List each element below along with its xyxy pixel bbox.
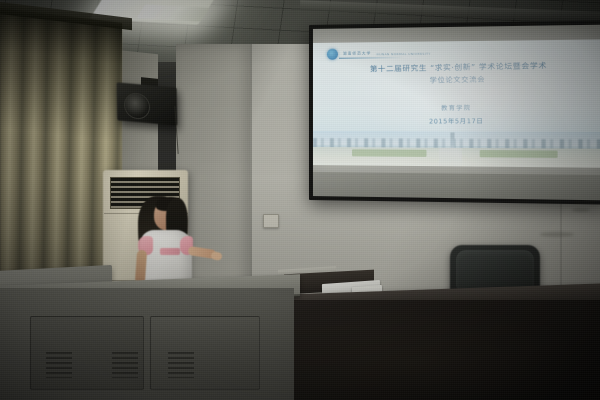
podium-vent-left <box>46 352 72 378</box>
screen-surface: 湖南师范大学 HUNAN NORMAL UNIVERSITY 第十二届研究生 “… <box>313 25 600 201</box>
slide-org-en: HUNAN NORMAL UNIVERSITY <box>376 51 430 56</box>
projection-screen: 湖南师范大学 HUNAN NORMAL UNIVERSITY 第十二届研究生 “… <box>309 20 600 204</box>
photo-road <box>439 148 462 167</box>
university-logo-icon <box>327 49 338 60</box>
photo-lawn <box>480 150 558 158</box>
chair-backrest <box>456 250 534 290</box>
screen-blank-area <box>313 172 600 200</box>
projected-slide: 湖南师范大学 HUNAN NORMAL UNIVERSITY 第十二届研究生 “… <box>313 39 600 167</box>
wall-scuff <box>572 208 590 212</box>
slide-campus-photo <box>313 131 600 168</box>
podium-vent-right <box>168 352 194 378</box>
slide-org-cn: 湖南师范大学 <box>343 51 371 56</box>
photo-lawn <box>352 149 427 157</box>
podium-door-right <box>150 316 260 390</box>
podium-vent-mid <box>112 352 138 378</box>
photo-scene: 湖南师范大学 HUNAN NORMAL UNIVERSITY 第十二届研究生 “… <box>0 0 600 400</box>
desk-shading <box>282 300 600 400</box>
slide-department: 教育学院 <box>313 101 600 113</box>
presenter-shirt-graphic <box>160 248 180 255</box>
wall-outlet <box>263 214 279 228</box>
slide-date: 2015年5月17日 <box>313 115 600 126</box>
slide-title: 第十二届研究生 “求实·创新” 学术论坛暨会学术 学位论文交流会 <box>323 59 598 89</box>
wall-scuff <box>540 232 574 237</box>
